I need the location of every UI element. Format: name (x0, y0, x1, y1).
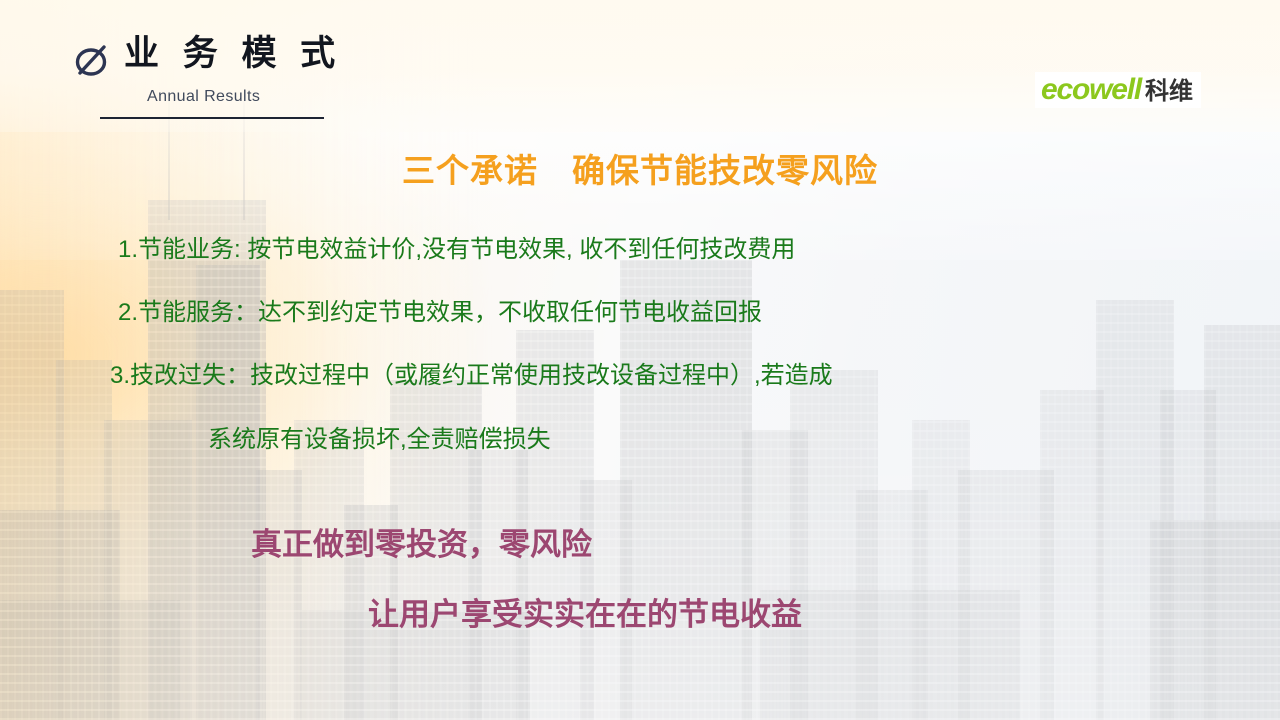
page-subtitle: Annual Results (147, 88, 260, 106)
list-item-continuation: 系统原有设备损坏,全责赔偿损失 (208, 426, 551, 455)
logo-wordmark-en: ecowell (1041, 75, 1141, 105)
list-item: 2.节能服务：达不到约定节电效果，不收取任何节电收益回报 (118, 299, 762, 328)
list-item: 3.技改过失：技改过程中（或履约正常使用技改设备过程中）,若造成 (110, 362, 833, 391)
page-title: 业 务 模 式 (124, 34, 342, 74)
company-logo: ecowell 科维 (1035, 72, 1201, 108)
list-item: 1.节能业务: 按节电效益计价,没有节电效果, 收不到任何技改费用 (118, 236, 795, 265)
logo-wordmark-cn: 科维 (1145, 80, 1193, 104)
slide-canvas: 业 务 模 式 Annual Results ecowell 科维 三个承诺 确… (0, 0, 1280, 720)
section-headline: 三个承诺 确保节能技改零风险 (0, 144, 1280, 192)
closing-line: 真正做到零投资，零风险 (251, 526, 592, 563)
closing-line: 让用户享受实实在在的节电收益 (368, 596, 802, 633)
title-underline-rule (100, 117, 324, 119)
slashed-circle-icon (68, 36, 116, 84)
